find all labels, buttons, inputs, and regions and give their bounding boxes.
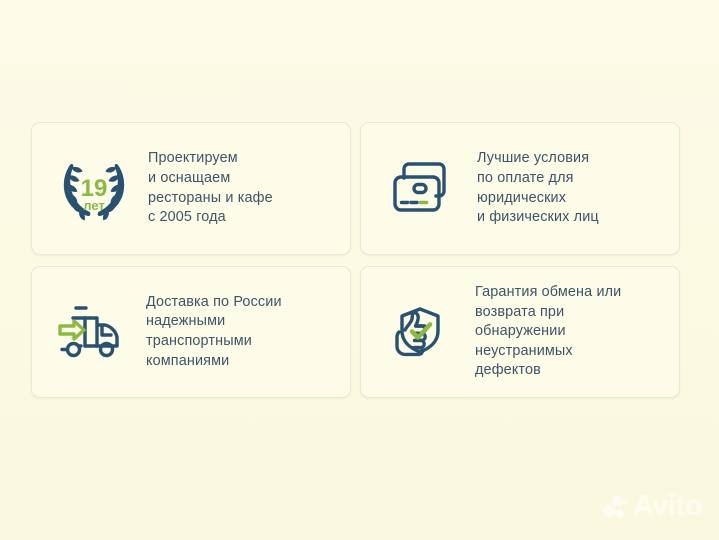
- benefit-card-text: Гарантия обмена или возврата при обнаруж…: [475, 283, 669, 381]
- avito-logo-icon: [602, 495, 628, 519]
- benefit-card-guarantee[interactable]: Гарантия обмена или возврата при обнаруж…: [360, 266, 680, 398]
- benefit-card-text: Проектируем и оснащаем рестораны и кафе …: [148, 149, 340, 227]
- card-slot-4: Гарантия обмена или возврата при обнаруж…: [360, 266, 689, 409]
- card-slot-3: Доставка по России надежными транспортны…: [31, 266, 360, 409]
- delivery-truck-icon: [54, 294, 130, 370]
- benefits-card-grid: 19 лет Проектируем и оснащаем рестораны …: [31, 122, 689, 409]
- card-slot-2: Лучшие условия по оплате для юридических…: [360, 122, 689, 266]
- avito-watermark: Avito: [602, 492, 702, 521]
- benefit-card-payment[interactable]: Лучшие условия по оплате для юридических…: [360, 122, 680, 255]
- avito-watermark-label: Avito: [633, 492, 702, 521]
- thumbs-up-shield-check-icon: [383, 294, 459, 370]
- benefit-card-text: Доставка по России надежными транспортны…: [146, 293, 340, 371]
- benefit-card-years[interactable]: 19 лет Проектируем и оснащаем рестораны …: [31, 122, 351, 255]
- laurel-word: лет: [83, 198, 105, 213]
- credit-cards-icon: [385, 151, 461, 227]
- card-slot-1: 19 лет Проектируем и оснащаем рестораны …: [31, 122, 360, 266]
- benefit-card-delivery[interactable]: Доставка по России надежными транспортны…: [31, 266, 351, 398]
- benefit-card-text: Лучшие условия по оплате для юридических…: [477, 149, 669, 227]
- laurel-wreath-icon: 19 лет: [56, 151, 132, 227]
- page-background: 19 лет Проектируем и оснащаем рестораны …: [0, 0, 719, 540]
